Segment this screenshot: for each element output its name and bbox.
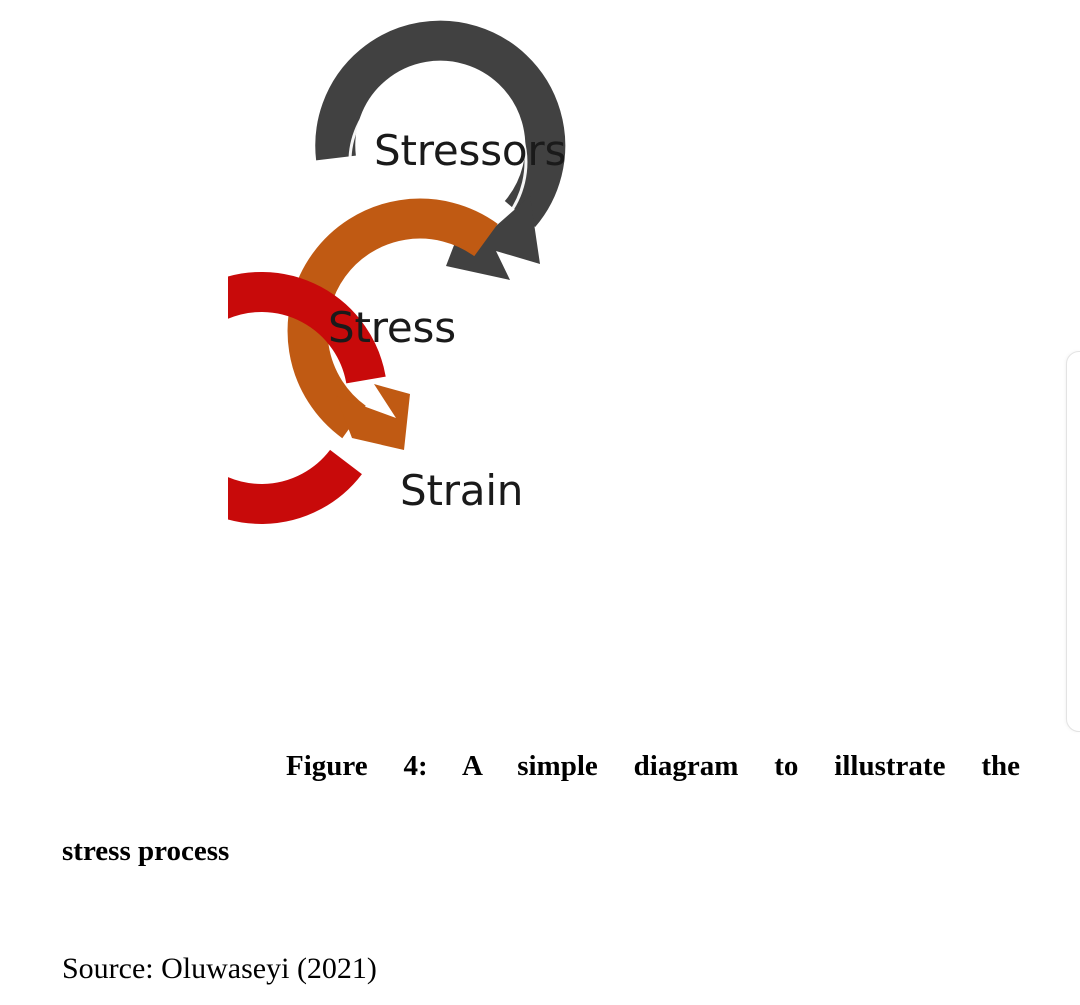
stress-process-diagram: Stressors Stress Strain: [228, 18, 648, 618]
document-page: Stressors Stress Strain Figure 4: A simp…: [0, 0, 1080, 1005]
figure-caption-line-1: Figure 4: A simple diagram to illustrate…: [62, 752, 1020, 781]
node-label-stressors: Stressors: [374, 126, 566, 175]
figure-source-line: Source: Oluwaseyi (2021): [62, 952, 377, 986]
side-panel-edge[interactable]: [1066, 351, 1080, 732]
figure-caption-line-2: stress process: [62, 781, 1020, 866]
node-label-strain: Strain: [400, 466, 523, 515]
figure-caption: Figure 4: A simple diagram to illustrate…: [62, 752, 1020, 866]
node-label-stress: Stress: [328, 303, 456, 352]
